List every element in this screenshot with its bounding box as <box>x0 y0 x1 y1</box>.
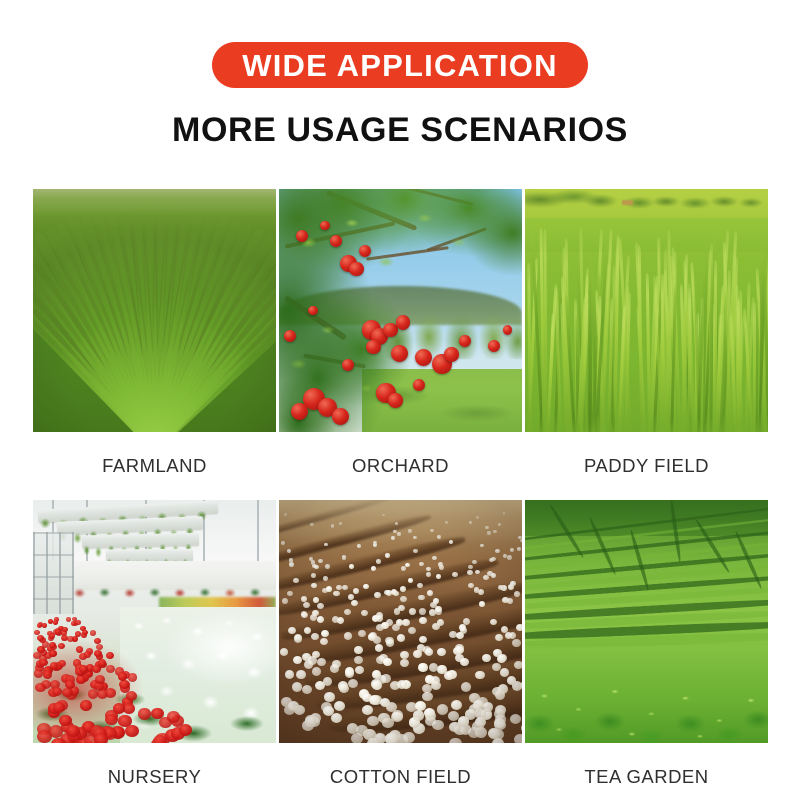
nursery-red-flower <box>37 646 44 653</box>
nursery-red-flower <box>126 691 137 701</box>
nursery-red-flower <box>58 660 66 668</box>
wide-application-badge: WIDE APPLICATION <box>212 42 587 88</box>
nursery-red-flower <box>80 700 92 711</box>
orchard-apple <box>284 330 296 342</box>
paddy-depth-fade <box>525 189 768 432</box>
nursery-red-flower <box>42 623 47 628</box>
nursery-red-flower <box>48 619 53 624</box>
nursery-red-flower <box>94 733 109 743</box>
nursery-red-blooms <box>33 500 276 743</box>
tea-garden-image <box>525 500 768 743</box>
scenario-cell-paddy-field: PADDY FIELD <box>525 189 768 500</box>
orchard-apple <box>459 335 471 347</box>
scenario-cell-tea-garden: TEA GARDEN <box>525 500 768 811</box>
orchard-image <box>279 189 522 432</box>
nursery-red-flower <box>95 675 105 684</box>
orchard-apple <box>391 345 408 362</box>
nursery-red-flower <box>52 687 63 697</box>
nursery-red-flower <box>76 675 86 684</box>
nursery-red-flower <box>59 715 72 727</box>
nursery-red-flower <box>118 672 128 681</box>
nursery-red-flower <box>75 620 80 625</box>
nursery-red-flower <box>151 708 164 719</box>
nursery-red-flower <box>37 635 43 641</box>
nursery-red-flower <box>94 650 102 657</box>
nursery-red-flower <box>49 650 57 657</box>
nursery-red-flower <box>98 659 106 667</box>
nursery-red-flower <box>67 636 74 642</box>
caption-nursery: NURSERY <box>33 743 276 811</box>
orchard-apple <box>359 245 371 257</box>
nursery-red-flower <box>55 629 61 634</box>
nursery-red-flower <box>76 646 83 653</box>
nursery-red-flower <box>105 688 116 698</box>
orchard-apple <box>330 235 342 247</box>
orchard-apple <box>291 403 308 420</box>
scenario-cell-farmland: FARMLAND <box>33 189 276 500</box>
caption-paddy-field: PADDY FIELD <box>525 432 768 500</box>
nursery-red-flower <box>37 623 42 628</box>
subtitle-row: MORE USAGE SCENARIOS <box>0 113 800 147</box>
nursery-red-flower <box>82 630 88 635</box>
paddy-field-image <box>525 189 768 432</box>
farmland-vignette <box>33 189 276 432</box>
nursery-red-flower <box>35 683 45 692</box>
orchard-apple <box>415 349 432 366</box>
tea-hedge-divider <box>588 516 617 575</box>
caption-farmland: FARMLAND <box>33 432 276 500</box>
nursery-red-flower <box>90 630 96 635</box>
orchard-apple <box>488 340 500 352</box>
orchard-apple <box>296 230 308 242</box>
nursery-red-flower <box>62 627 68 632</box>
caption-tea-garden: TEA GARDEN <box>525 743 768 811</box>
orchard-apple <box>342 359 354 371</box>
tea-leaf-highlights <box>525 631 768 743</box>
tea-hedge-divider <box>629 529 650 591</box>
orchard-apple <box>503 325 513 335</box>
nursery-red-flower <box>53 620 58 625</box>
nursery-red-flower <box>128 673 138 682</box>
orchard-apple <box>388 393 403 408</box>
caption-orchard: ORCHARD <box>279 432 522 500</box>
cotton-vignette <box>279 500 522 743</box>
scenario-cell-nursery: NURSERY <box>33 500 276 811</box>
nursery-red-flower <box>84 651 92 658</box>
orchard-apple <box>366 340 381 355</box>
page-subtitle: MORE USAGE SCENARIOS <box>172 113 628 147</box>
nursery-red-flower <box>125 725 139 738</box>
nursery-image <box>33 500 276 743</box>
nursery-red-flower <box>39 659 47 667</box>
caption-cotton-field: COTTON FIELD <box>279 743 522 811</box>
orchard-apple <box>444 347 459 362</box>
nursery-red-flower <box>138 708 151 719</box>
orchard-apple <box>349 262 364 277</box>
orchard-apple <box>332 408 349 425</box>
nursery-red-flower <box>106 665 115 673</box>
wide-application-infographic: WIDE APPLICATION MORE USAGE SCENARIOS FA… <box>0 0 800 800</box>
badge-row: WIDE APPLICATION <box>0 42 800 88</box>
nursery-red-flower <box>105 714 118 726</box>
scenario-cell-orchard: ORCHARD <box>279 189 522 500</box>
nursery-red-flower <box>34 669 43 677</box>
farmland-image <box>33 189 276 432</box>
orchard-apples <box>279 189 522 432</box>
orchard-apple <box>320 221 330 231</box>
cotton-field-image <box>279 500 522 743</box>
orchard-apple <box>413 379 425 391</box>
nursery-red-flower <box>79 665 88 673</box>
nursery-red-flower <box>53 702 65 713</box>
nursery-red-flower <box>167 711 180 723</box>
nursery-red-flower <box>58 643 65 649</box>
orchard-apple <box>308 306 318 316</box>
nursery-red-flower <box>75 631 81 636</box>
nursery-red-flower <box>179 724 193 736</box>
nursery-red-flower <box>66 725 80 738</box>
scenario-cell-cotton-field: COTTON FIELD <box>279 500 522 811</box>
nursery-red-flower <box>43 670 52 678</box>
nursery-red-flower <box>106 652 114 659</box>
usage-scenario-grid: FARMLAND ORCHARD <box>33 189 768 811</box>
orchard-apple <box>396 315 411 330</box>
